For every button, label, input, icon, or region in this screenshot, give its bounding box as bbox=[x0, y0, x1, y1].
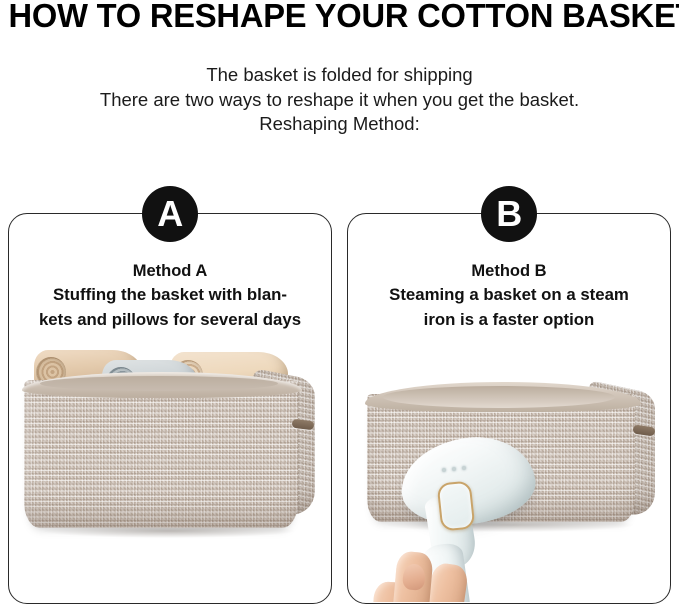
method-b-text: Method B Steaming a basket on a steam ir… bbox=[354, 259, 664, 332]
page-title: HOW TO RESHAPE YOUR COTTON BASKET bbox=[8, 0, 670, 36]
method-a-description-line-1: Stuffing the basket with blan- bbox=[15, 283, 325, 308]
subtitle-block: The basket is folded for shipping There … bbox=[0, 63, 679, 137]
method-b-photo bbox=[349, 338, 669, 602]
method-a-description-line-2: kets and pillows for several days bbox=[15, 308, 325, 333]
method-a-text: Method A Stuffing the basket with blan- … bbox=[15, 259, 325, 332]
method-a-photo bbox=[10, 338, 330, 602]
method-panel-b: B Method B Steaming a basket on a steam … bbox=[347, 213, 671, 604]
basket-a-interior bbox=[40, 376, 278, 391]
method-b-description-line-1: Steaming a basket on a steam bbox=[354, 283, 664, 308]
steam-iron-indicator-2 bbox=[452, 467, 456, 471]
steam-iron-indicator-3 bbox=[462, 466, 466, 470]
subtitle-line-1: The basket is folded for shipping bbox=[0, 63, 679, 88]
method-b-description-line-2: iron is a faster option bbox=[354, 308, 664, 333]
steam-iron-indicator-1 bbox=[442, 468, 446, 472]
basket-a-front-panel bbox=[24, 380, 298, 528]
method-panel-a: A Method A Stuffing the basket with blan… bbox=[8, 213, 332, 604]
subtitle-line-2: There are two ways to reshape it when yo… bbox=[0, 88, 679, 113]
subtitle-line-3: Reshaping Method: bbox=[0, 112, 679, 137]
badge-b: B bbox=[481, 186, 537, 242]
method-b-title: Method B bbox=[354, 259, 664, 283]
badge-a: A bbox=[142, 186, 198, 242]
method-a-title: Method A bbox=[15, 259, 325, 283]
steam-iron-power-button bbox=[437, 480, 476, 531]
basket-b-interior bbox=[383, 386, 615, 408]
